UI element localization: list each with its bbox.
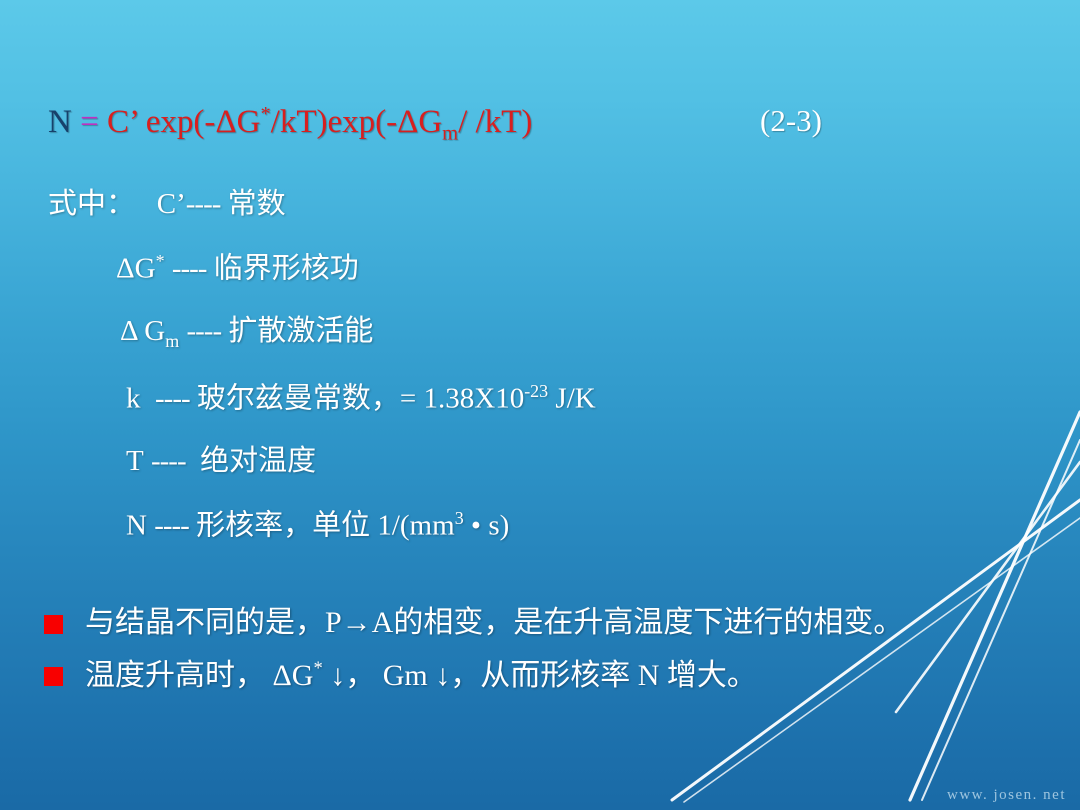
definition-meaning-c: 常数 [228, 188, 286, 220]
slide-content: N = C’ exp(-ΔG*/kT)exp(-ΔGm/ /kT) (2-3) … [0, 0, 1080, 810]
definition-meaning-k: 玻尔兹曼常数，= 1.38X10 [197, 383, 524, 415]
equation-expression: N = C’ exp(-ΔG*/kT)exp(-ΔGm/ /kT) [48, 103, 532, 145]
bullet-text-2: 温度升高时， ΔG* ↓， Gm ↓，从而形核率 N 增大。 [85, 660, 757, 691]
definition-symbol-n: N [126, 510, 147, 542]
definition-item-dgstar: ΔG* ---- 临界形核功 [48, 252, 1048, 284]
equation-equals: = [80, 104, 99, 140]
definition-intro-label: 式中： [48, 188, 135, 220]
definition-item-n: N ---- 形核率，单位 1/(mm3 • s) [48, 509, 1048, 541]
slide-canvas: N = C’ exp(-ΔG*/kT)exp(-ΔGm/ /kT) (2-3) … [0, 0, 1080, 810]
bullet-text-2-part2: ↓， Gm ↓，从而形核率 N 增大。 [323, 659, 757, 692]
definition-item-dgm: Δ Gm ---- 扩散激活能 [48, 317, 1048, 350]
definition-item-t: T ---- 绝对温度 [48, 447, 1048, 476]
definition-dash-dgm: ---- [186, 315, 221, 347]
bullet-text-1: 与结晶不同的是，P→A的相变，是在升高温度下进行的相变。 [85, 608, 903, 638]
equation-number: (2-3) [760, 103, 822, 139]
red-square-bullet-icon [44, 615, 63, 634]
definition-dash-dgstar: ---- [172, 253, 207, 285]
bullet-text-2-sup: * [313, 658, 322, 679]
definition-dash-k: ---- [155, 383, 190, 415]
definition-meaning-tail-n: • s) [464, 510, 510, 542]
equation-rhs-star: * [260, 103, 270, 125]
definition-meaning-sup-k: -23 [524, 381, 548, 401]
definition-symbol-sup-dgstar: * [156, 251, 165, 271]
definition-meaning-dgm: 扩散激活能 [228, 315, 373, 347]
definition-symbol-t: T [126, 445, 144, 477]
definition-symbol-dgm: Δ G [120, 315, 165, 347]
definition-meaning-n: 形核率，单位 1/(mm [196, 510, 455, 542]
definition-symbol-sub-dgm: m [165, 330, 179, 350]
definition-symbol-dgstar: ΔG [116, 253, 156, 285]
red-square-bullet-icon [44, 667, 63, 686]
bullet-text-1-part1: 与结晶不同的是，P→A的相变，是在升高温度下进行的相变。 [85, 606, 903, 639]
definition-meaning-sup-n: 3 [455, 508, 464, 528]
bullet-text-2-part1: 温度升高时， ΔG [85, 659, 313, 692]
equation-rhs-part1: C’ exp(-ΔG [107, 104, 260, 140]
bullet-list: 与结晶不同的是，P→A的相变，是在升高温度下进行的相变。 温度升高时， ΔG* … [44, 608, 1064, 713]
equation-lhs: N [48, 104, 72, 140]
definition-list: 式中： C’---- 常数 ΔG* ---- 临界形核功 Δ Gm ---- 扩… [48, 190, 1048, 574]
watermark: www. josen. net [947, 787, 1066, 804]
equation-rhs-part2: /kT)exp(-ΔG [271, 104, 443, 140]
bullet-item-2: 温度升高时， ΔG* ↓， Gm ↓，从而形核率 N 增大。 [44, 660, 1064, 691]
definition-symbol-k: k [126, 383, 141, 415]
bullet-item-1: 与结晶不同的是，P→A的相变，是在升高温度下进行的相变。 [44, 608, 1064, 638]
equation-row: N = C’ exp(-ΔG*/kT)exp(-ΔGm/ /kT) (2-3) [48, 103, 1008, 145]
equation-rhs-subscript: m [442, 123, 458, 145]
equation-rhs-part3: / /kT) [458, 104, 532, 140]
definition-meaning-tail-k: J/K [548, 383, 596, 415]
definition-symbol-c: C’ [157, 188, 186, 220]
definition-meaning-dgstar: 临界形核功 [214, 253, 359, 285]
definition-item-c: 式中： C’---- 常数 [48, 190, 1048, 219]
definition-dash-n: ---- [154, 510, 189, 542]
definition-dash-t: ---- [151, 445, 186, 477]
definition-meaning-t: 绝对温度 [200, 445, 316, 477]
definition-dash-c: ---- [186, 188, 221, 220]
definition-item-k: k ---- 玻尔兹曼常数，= 1.38X10-23 J/K [48, 382, 1048, 414]
equation-rhs: C’ exp(-ΔG*/kT)exp(-ΔGm/ /kT) [107, 104, 532, 140]
